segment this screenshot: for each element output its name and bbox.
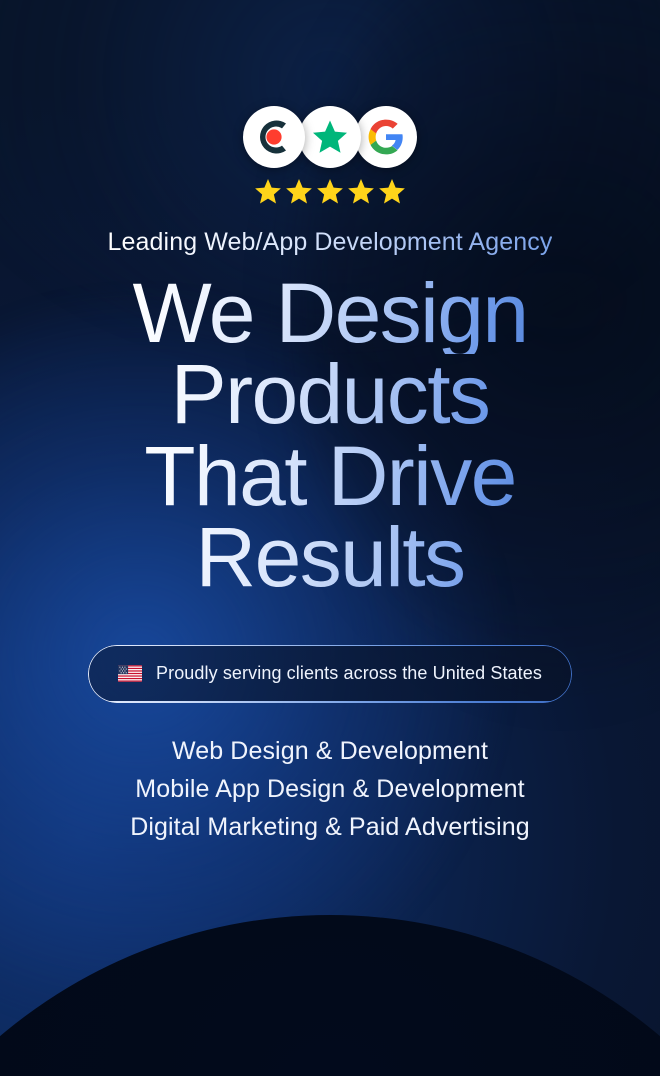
star-icon [253,176,283,206]
hero-section: Leading Web/App Development Agency We De… [0,0,660,1076]
google-g-icon [367,118,405,156]
star-icon [315,176,345,206]
us-flag-icon [118,665,142,682]
star-icon [377,176,407,206]
hero-content: Leading Web/App Development Agency We De… [0,0,660,1076]
star-icon [284,176,314,206]
service-item: Mobile App Design & Development [135,775,524,804]
location-badge[interactable]: Proudly serving clients across the Unite… [88,645,572,703]
headline-line-4: Results [133,517,528,598]
service-item: Digital Marketing & Paid Advertising [130,813,530,842]
page-title: We Design Products That Drive Results [133,273,528,599]
services-list: Web Design & Development Mobile App Desi… [130,737,530,842]
service-item: Web Design & Development [172,737,488,766]
trustpilot-star-icon [310,117,350,157]
headline-line-3: That Drive [133,436,528,517]
star-icon [346,176,376,206]
google-badge[interactable] [355,106,417,168]
headline-line-2: Products [133,354,528,435]
location-badge-label: Proudly serving clients across the Unite… [156,663,542,684]
review-badges-group [243,106,417,168]
clutch-icon [253,116,295,158]
clutch-badge[interactable] [243,106,305,168]
eyebrow-text: Leading Web/App Development Agency [108,228,553,257]
trustpilot-badge[interactable] [299,106,361,168]
headline-line-1: We Design [133,273,528,354]
star-rating [253,176,407,206]
